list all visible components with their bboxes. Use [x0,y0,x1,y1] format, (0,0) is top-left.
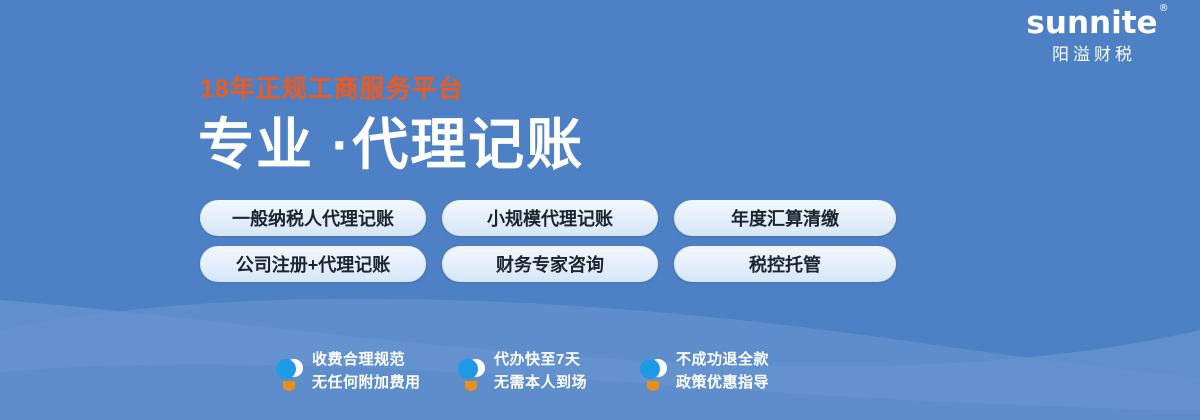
service-pill[interactable]: 一般纳税人代理记账 [200,200,426,236]
promo-banner: sunnite ® 阳溢财税 18年正规工商服务平台 专业 ·代理记账 一般纳税… [0,0,1200,420]
feature-item: 代办快至7天 无需本人到场 [454,348,636,395]
service-pill[interactable]: 财务专家咨询 [442,246,658,282]
feature-text: 不成功退全款 政策优惠指导 [676,348,769,395]
feature-line-2: 无任何附加费用 [312,371,421,394]
registered-trademark-icon: ® [1159,4,1169,14]
service-pill-row: 一般纳税人代理记账 小规模代理记账 年度汇算清缴 [200,200,896,236]
check-badge-icon [636,353,670,391]
logo-wordmark-text: sunnite [1026,5,1157,41]
service-pill[interactable]: 小规模代理记账 [442,200,658,236]
feature-text: 代办快至7天 无需本人到场 [494,348,587,395]
feature-text: 收费合理规范 无任何附加费用 [312,348,421,395]
feature-line-1: 代办快至7天 [494,348,587,371]
brand-logo[interactable]: sunnite ® 阳溢财税 [1002,8,1182,63]
feature-line-2: 无需本人到场 [494,371,587,394]
service-pill-row: 公司注册+代理记账 财务专家咨询 税控托管 [200,246,896,282]
feature-line-2: 政策优惠指导 [676,371,769,394]
feature-item: 收费合理规范 无任何附加费用 [272,348,454,395]
hero-headline: 专业 ·代理记账 [198,114,584,176]
check-badge-icon [272,353,306,391]
logo-wordmark: sunnite ® [1026,8,1157,39]
feature-line-1: 收费合理规范 [312,348,421,371]
service-pill-grid: 一般纳税人代理记账 小规模代理记账 年度汇算清缴 公司注册+代理记账 财务专家咨… [200,200,896,292]
check-badge-icon [454,353,488,391]
logo-chinese-name: 阳溢财税 [1002,46,1182,63]
service-pill[interactable]: 税控托管 [674,246,896,282]
feature-line-1: 不成功退全款 [676,348,769,371]
hero-eyebrow: 18年正规工商服务平台 [200,76,464,104]
service-pill[interactable]: 公司注册+代理记账 [200,246,426,282]
feature-item: 不成功退全款 政策优惠指导 [636,348,818,395]
feature-list: 收费合理规范 无任何附加费用 代办快至7天 无需本人到场 不成功退全款 [272,348,818,395]
service-pill[interactable]: 年度汇算清缴 [674,200,896,236]
